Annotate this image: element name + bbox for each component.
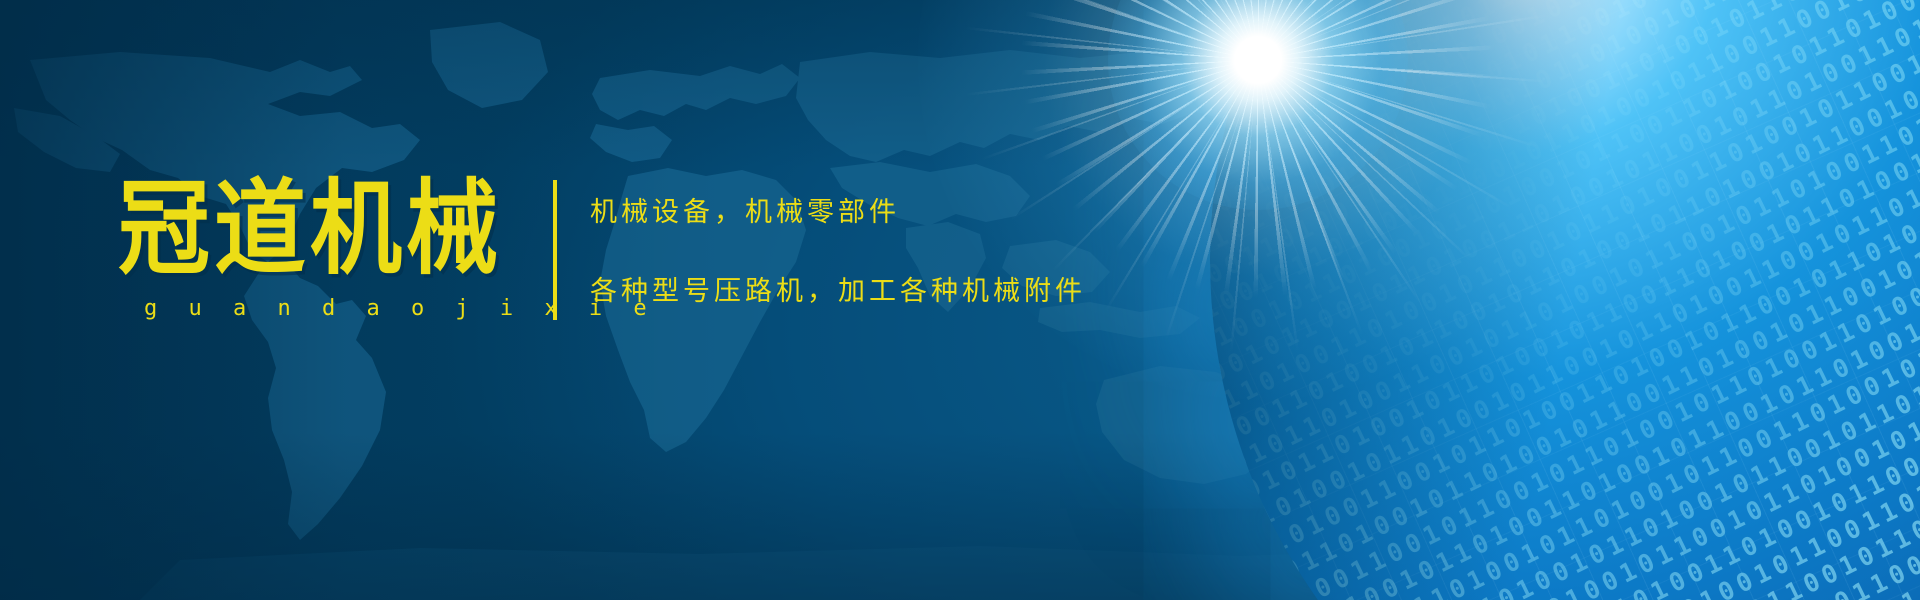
banner-content: 冠道机械 g u a n d a o j i x i e 机械设备，机械零部件 … [0, 0, 1920, 600]
tagline-secondary: 各种型号压路机，加工各种机械附件 [590, 269, 1086, 308]
vertical-divider [553, 180, 557, 320]
tagline-primary: 机械设备，机械零部件 [590, 190, 1086, 229]
brand-name: 冠道机械 [118, 178, 518, 281]
promo-banner: 0110100101100001011010010110111001100001… [0, 0, 1920, 600]
brand-lockup: 冠道机械 g u a n d a o j i x i e [118, 178, 518, 321]
tagline-group: 机械设备，机械零部件 各种型号压路机，加工各种机械附件 [590, 190, 1086, 308]
brand-pinyin: g u a n d a o j i x i e [118, 296, 518, 321]
